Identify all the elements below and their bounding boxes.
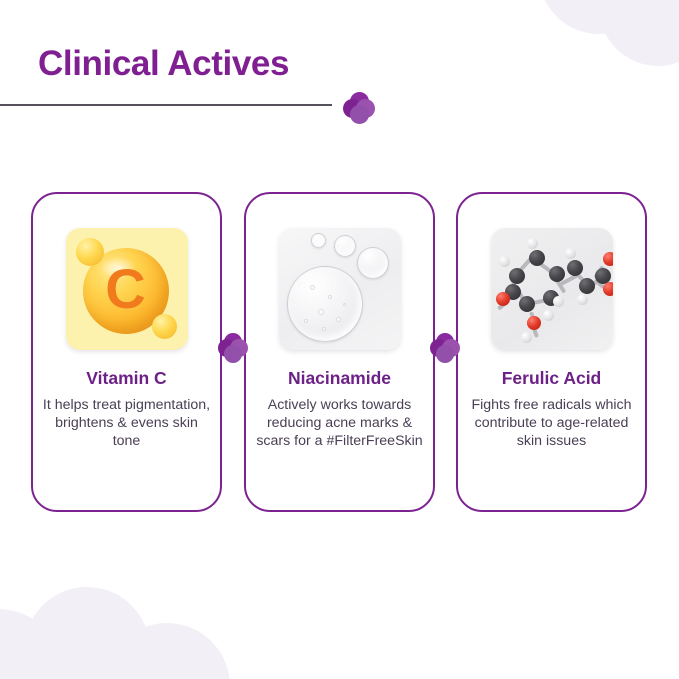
hydrogen-atom (527, 238, 538, 249)
card-title: Ferulic Acid (502, 368, 602, 389)
clover-plus-icon (343, 92, 375, 124)
molecule-model-icon (491, 228, 613, 350)
decor-blob-bottom-left-d (0, 635, 160, 679)
infographic-page: Clinical Actives C (0, 0, 679, 679)
carbon-atom (549, 266, 565, 282)
vitamin-c-small-sphere-top (76, 238, 104, 266)
card-description: It helps treat pigmentation, brightens &… (41, 396, 213, 451)
clover-lobe-bottom (436, 345, 454, 363)
header: Clinical Actives (0, 44, 679, 122)
hydrogen-atom (577, 294, 588, 305)
gel-droplets-icon (279, 228, 401, 350)
hydrogen-atom (521, 332, 532, 343)
ingredient-card-niacinamide[interactable]: Niacinamide Actively works towards reduc… (244, 192, 435, 512)
ingredient-card-vitamin-c[interactable]: C Vitamin C It helps treat pigmentation,… (31, 192, 222, 512)
oxygen-atom (527, 316, 541, 330)
gel-drop-small (334, 235, 356, 257)
card-description: Fights free radicals which contribute to… (466, 396, 638, 451)
clover-lobe-bottom (350, 105, 369, 124)
carbon-atom (529, 250, 545, 266)
card-description: Actively works towards reducing acne mar… (254, 396, 426, 451)
oxygen-atom (603, 282, 613, 296)
vitamin-c-small-sphere-bottom (152, 314, 177, 339)
decor-blob-bottom-left-a (24, 587, 150, 679)
page-title: Clinical Actives (0, 44, 679, 84)
card-connector-clover-plus-icon-1 (218, 333, 248, 363)
gel-drop-large (287, 266, 363, 342)
decor-blob-top-right-b (539, 0, 659, 34)
carbon-atom (579, 278, 595, 294)
oxygen-atom (603, 252, 613, 266)
ingredient-card-list: C Vitamin C It helps treat pigmentation,… (31, 192, 648, 512)
carbon-atom (567, 260, 583, 276)
decor-blob-bottom-left-b (0, 609, 64, 679)
hydrogen-atom (499, 256, 510, 267)
hydrogen-atom (565, 248, 576, 259)
decor-blob-bottom-left-c (104, 623, 230, 679)
vitamin-c-sphere-icon: C (66, 228, 188, 350)
card-title: Vitamin C (86, 368, 166, 389)
carbon-atom (519, 296, 535, 312)
carbon-atom (509, 268, 525, 284)
oxygen-atom (496, 292, 510, 306)
gel-drop-medium (357, 247, 389, 279)
gel-drop-tiny (311, 233, 326, 248)
clover-lobe-bottom (224, 345, 242, 363)
ingredient-card-ferulic-acid[interactable]: Ferulic Acid Fights free radicals which … (456, 192, 647, 512)
card-title: Niacinamide (288, 368, 391, 389)
title-divider-row (0, 96, 679, 122)
hydrogen-atom (553, 296, 564, 307)
card-connector-clover-plus-icon-2 (430, 333, 460, 363)
title-divider-line (0, 104, 332, 106)
hydrogen-atom (543, 310, 554, 321)
